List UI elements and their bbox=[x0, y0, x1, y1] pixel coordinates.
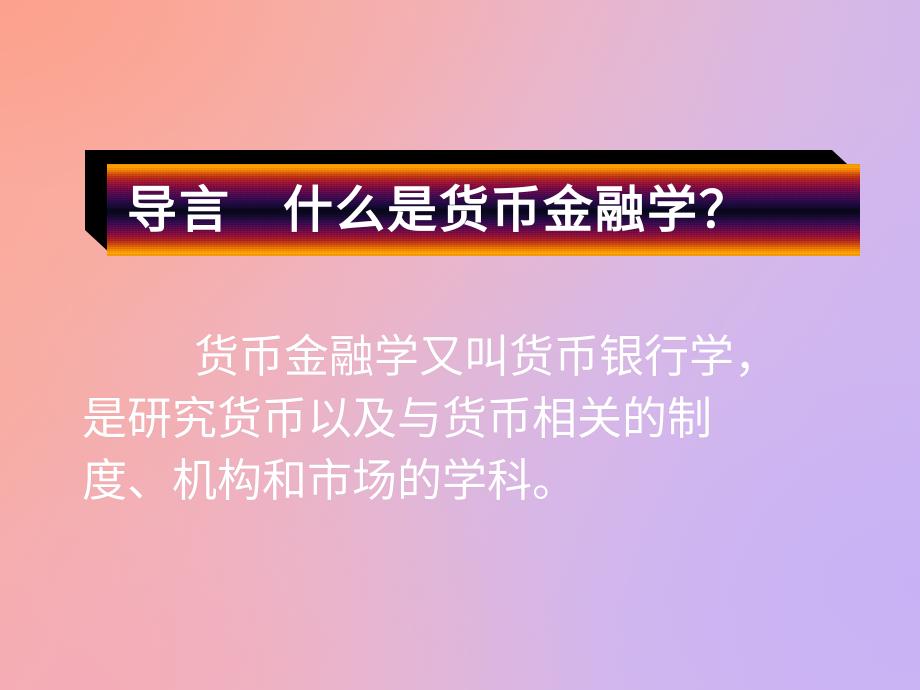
body-line-1: 货币金融学又叫货币银行学， bbox=[82, 326, 842, 388]
title-banner-face: 导言 什么是货币金融学？ bbox=[107, 164, 860, 256]
slide-title: 导言 什么是货币金融学？ bbox=[107, 164, 860, 256]
body-line-3: 度、机构和市场的学科。 bbox=[82, 450, 842, 512]
presentation-slide: 导言 什么是货币金融学？ 货币金融学又叫货币银行学， 是研究货币以及与货币相关的… bbox=[0, 0, 920, 690]
body-line-2: 是研究货币以及与货币相关的制 bbox=[82, 388, 842, 450]
title-banner: 导言 什么是货币金融学？ bbox=[85, 150, 860, 256]
slide-body-text: 货币金融学又叫货币银行学， 是研究货币以及与货币相关的制 度、机构和市场的学科。 bbox=[82, 326, 842, 512]
